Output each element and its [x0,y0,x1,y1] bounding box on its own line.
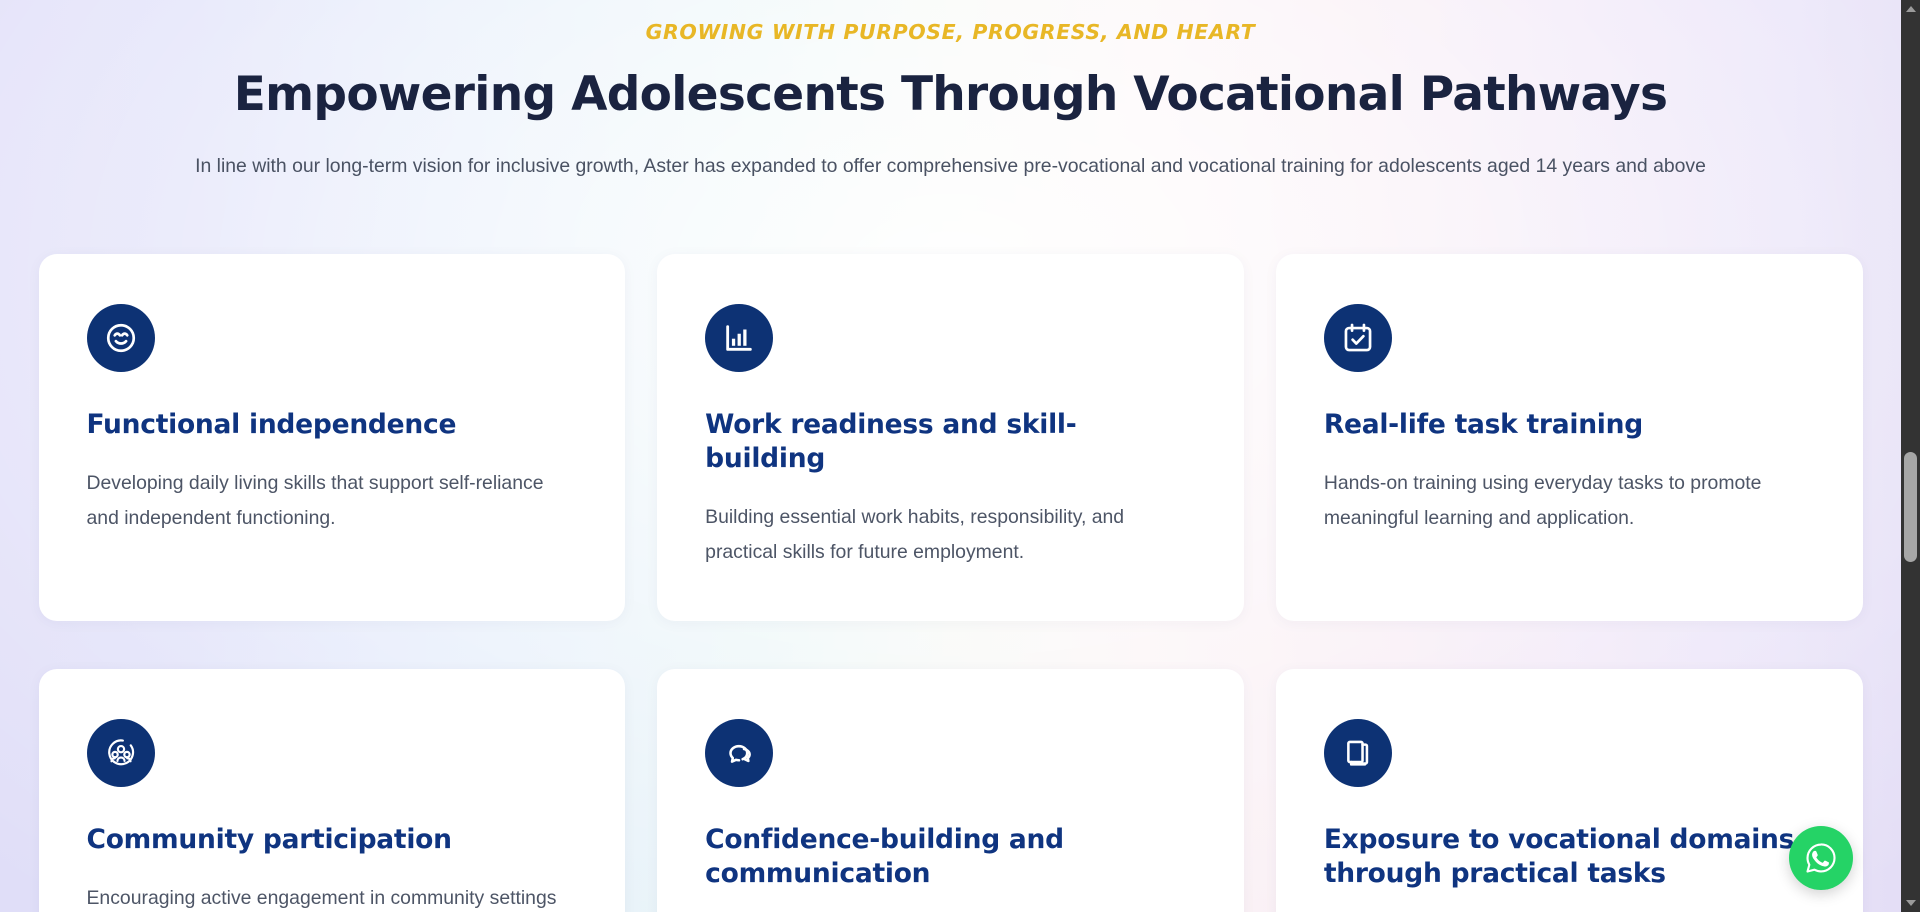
card-description: Encouraging active engagement in communi… [87,881,578,912]
scroll-down-arrow[interactable] [1901,894,1920,912]
feature-card[interactable]: Work readiness and skill-building Buildi… [657,254,1244,621]
feature-card[interactable]: Community participation Encouraging acti… [39,669,626,912]
card-title: Confidence-building and communication [705,823,1196,891]
card-description: Building essential work habits, responsi… [705,500,1196,569]
page-title: Empowering Adolescents Through Vocationa… [0,69,1901,122]
feature-card-grid: Functional independence Developing daily… [39,254,1863,912]
page-content: GROWING WITH PURPOSE, PROGRESS, AND HEAR… [0,0,1901,912]
vertical-scrollbar[interactable] [1901,0,1920,912]
hero-eyebrow: GROWING WITH PURPOSE, PROGRESS, AND HEAR… [0,20,1901,45]
card-title: Work readiness and skill-building [705,408,1196,476]
feature-card[interactable]: Exposure to vocational domains through p… [1276,669,1863,912]
card-icon-wrapper [1324,304,1392,372]
card-icon-wrapper [705,719,773,787]
whatsapp-chat-button[interactable] [1789,826,1853,890]
card-icon-wrapper [705,304,773,372]
card-icon-wrapper [1324,719,1392,787]
card-title: Exposure to vocational domains through p… [1324,823,1815,891]
browser-viewport: GROWING WITH PURPOSE, PROGRESS, AND HEAR… [0,0,1920,912]
community-group-icon [104,736,138,770]
whatsapp-icon [1801,838,1841,878]
card-description: Developing daily living skills that supp… [87,466,578,535]
card-title: Real-life task training [1324,408,1815,442]
feature-card[interactable]: Functional independence Developing daily… [39,254,626,621]
feature-card[interactable]: Real-life task training Hands-on trainin… [1276,254,1863,621]
hero-subtitle: In line with our long-term vision for in… [146,152,1756,181]
calendar-check-icon [1341,321,1375,355]
card-title: Community participation [87,823,578,857]
smiley-face-icon [104,321,138,355]
chat-bubbles-icon [722,736,756,770]
card-icon-wrapper [87,719,155,787]
books-stack-icon [1341,736,1375,770]
card-icon-wrapper [87,304,155,372]
feature-card[interactable]: Confidence-building and communication St… [657,669,1244,912]
card-title: Functional independence [87,408,578,442]
hero-section: GROWING WITH PURPOSE, PROGRESS, AND HEAR… [0,0,1901,181]
bar-chart-icon [722,321,756,355]
scroll-up-arrow[interactable] [1901,0,1920,18]
scrollbar-thumb[interactable] [1904,452,1917,562]
card-description: Hands-on training using everyday tasks t… [1324,466,1815,535]
